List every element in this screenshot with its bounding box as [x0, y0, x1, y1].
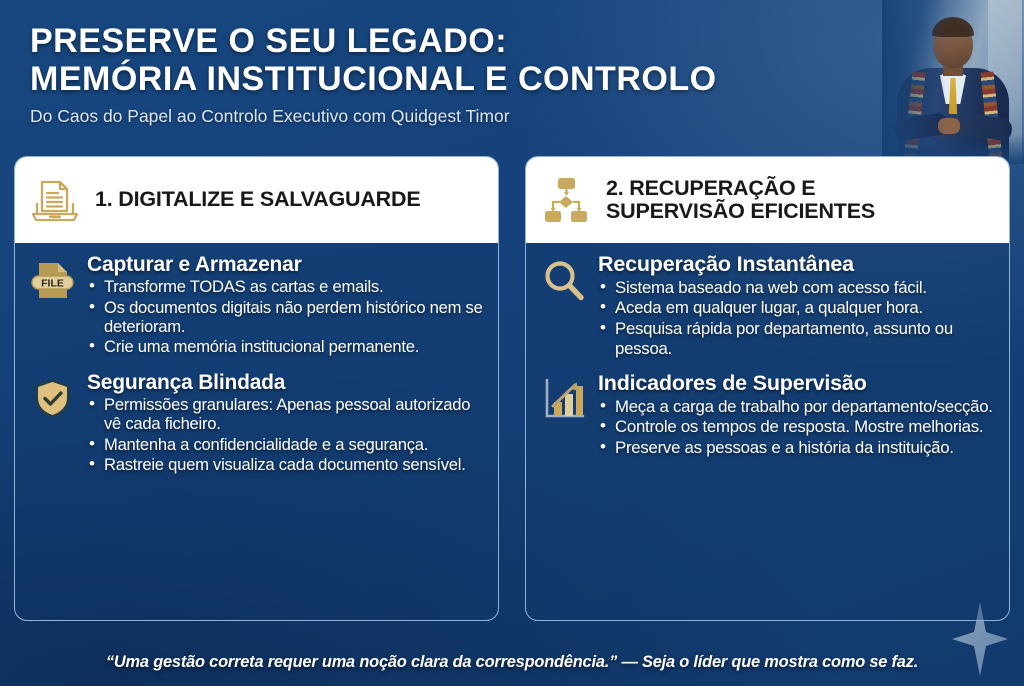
card-header-title: 1. DIGITALIZE E SALVAGUARDE [95, 188, 420, 211]
list-item: Transforme TODAS as cartas e emails. [87, 277, 486, 296]
list-item: Rastreie quem visualiza cada documento s… [87, 455, 486, 474]
block-text: Indicadores de Supervisão Meça a carga d… [598, 372, 997, 458]
cards-container: 1. DIGITALIZE E SALVAGUARDE FILE Captura… [14, 156, 1010, 621]
list-item: Mantenha a confidencialidade e a seguran… [87, 435, 486, 454]
bar-chart-growth-icon [540, 376, 587, 423]
list-item: Preserve as pessoas e a história da inst… [598, 438, 997, 458]
list-item: Permissões granulares: Apenas pessoal au… [87, 395, 486, 434]
bullet-list: Sistema baseado na web com acesso fácil.… [598, 278, 997, 359]
block-text: Capturar e Armazenar Transforme TODAS as… [87, 253, 486, 357]
block-heading: Recuperação Instantânea [598, 253, 997, 277]
bullet-list: Meça a carga de trabalho por departament… [598, 397, 997, 458]
list-item: Aceda em qualquer lugar, a qualquer hora… [598, 298, 997, 318]
bullet-list: Transforme TODAS as cartas e emails. Os … [87, 277, 486, 357]
list-item: Pesquisa rápida por departamento, assunt… [598, 319, 997, 358]
list-item: Controle os tempos de resposta. Mostre m… [598, 417, 997, 437]
bullet-list: Permissões granulares: Apenas pessoal au… [87, 395, 486, 475]
page-title-line-1: PRESERVE O SEU LEGADO: [30, 22, 930, 60]
page-header: PRESERVE O SEU LEGADO: MEMÓRIA INSTITUCI… [30, 22, 930, 127]
block-heading: Indicadores de Supervisão [598, 372, 997, 396]
list-item: Meça a carga de trabalho por departament… [598, 397, 997, 417]
file-document-icon: FILE [29, 257, 76, 304]
card-header: 1. DIGITALIZE E SALVAGUARDE [15, 157, 498, 243]
card-header-title-line-1: 2. RECUPERAÇÃO E [606, 177, 875, 200]
card-recuperacao-e-supervisao: 2. RECUPERAÇÃO E SUPERVISÃO EFICIENTES R… [525, 156, 1010, 621]
block-heading: Segurança Blindada [87, 371, 486, 394]
document-scan-laptop-icon [29, 174, 81, 226]
card-body: Recuperação Instantânea Sistema baseado … [526, 243, 1009, 620]
list-item: Os documentos digitais não perdem histór… [87, 298, 486, 337]
card-header-title-line-2: SUPERVISÃO EFICIENTES [606, 200, 875, 223]
footer-quote: “Uma gestão correta requer uma noção cla… [0, 653, 1024, 672]
card-header-title: 2. RECUPERAÇÃO E SUPERVISÃO EFICIENTES [606, 177, 875, 223]
block-capturar-e-armazenar: FILE Capturar e Armazenar Transforme TOD… [29, 253, 486, 357]
list-item: Crie uma memória institucional permanent… [87, 337, 486, 356]
block-text: Recuperação Instantânea Sistema baseado … [598, 253, 997, 358]
magnifier-search-icon [540, 257, 587, 304]
list-item: Sistema baseado na web com acesso fácil. [598, 278, 997, 298]
card-body: FILE Capturar e Armazenar Transforme TOD… [15, 243, 498, 620]
card-header: 2. RECUPERAÇÃO E SUPERVISÃO EFICIENTES [526, 157, 1009, 243]
block-heading: Capturar e Armazenar [87, 253, 486, 276]
block-seguranca-blindada: Segurança Blindada Permissões granulares… [29, 371, 486, 475]
page-title-line-2: MEMÓRIA INSTITUCIONAL E CONTROLO [30, 60, 930, 98]
workflow-flowchart-icon [540, 174, 592, 226]
page-subtitle: Do Caos do Papel ao Controlo Executivo c… [30, 106, 930, 127]
card-digitalize-e-salvaguarde: 1. DIGITALIZE E SALVAGUARDE FILE Captura… [14, 156, 499, 621]
block-recuperacao-instantanea: Recuperação Instantânea Sistema baseado … [540, 253, 997, 358]
block-indicadores-de-supervisao: Indicadores de Supervisão Meça a carga d… [540, 372, 997, 458]
file-icon-label: FILE [41, 277, 64, 289]
block-text: Segurança Blindada Permissões granulares… [87, 371, 486, 475]
shield-check-icon [29, 375, 76, 422]
